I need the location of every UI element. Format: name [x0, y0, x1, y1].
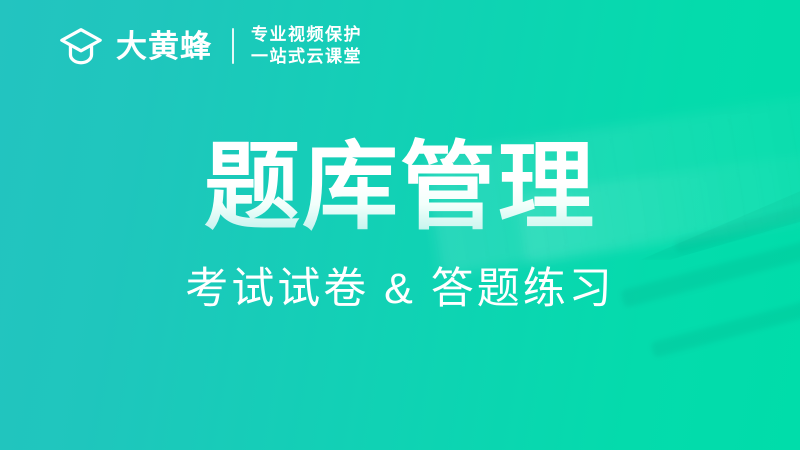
page-subtitle: 考试试卷 & 答题练习	[0, 266, 800, 313]
page-title: 题库管理	[0, 136, 800, 240]
brand-tagline-line-2: 一站式云课堂	[251, 46, 362, 68]
brand-tagline-line-1: 专业视频保护	[251, 24, 362, 46]
brand-tagline: 专业视频保护 一站式云课堂	[251, 24, 362, 69]
brand-name: 大黄蜂	[116, 31, 212, 62]
promo-banner: 大黄蜂 专业视频保护 一站式云课堂 题库管理 考试试卷 & 答题练习	[0, 0, 800, 450]
headline-block: 题库管理 考试试卷 & 答题练习	[0, 136, 800, 313]
logo-divider	[232, 28, 234, 64]
graduation-cap-icon	[58, 23, 104, 69]
brand-logo-lockup[interactable]: 大黄蜂 专业视频保护 一站式云课堂	[58, 18, 362, 74]
